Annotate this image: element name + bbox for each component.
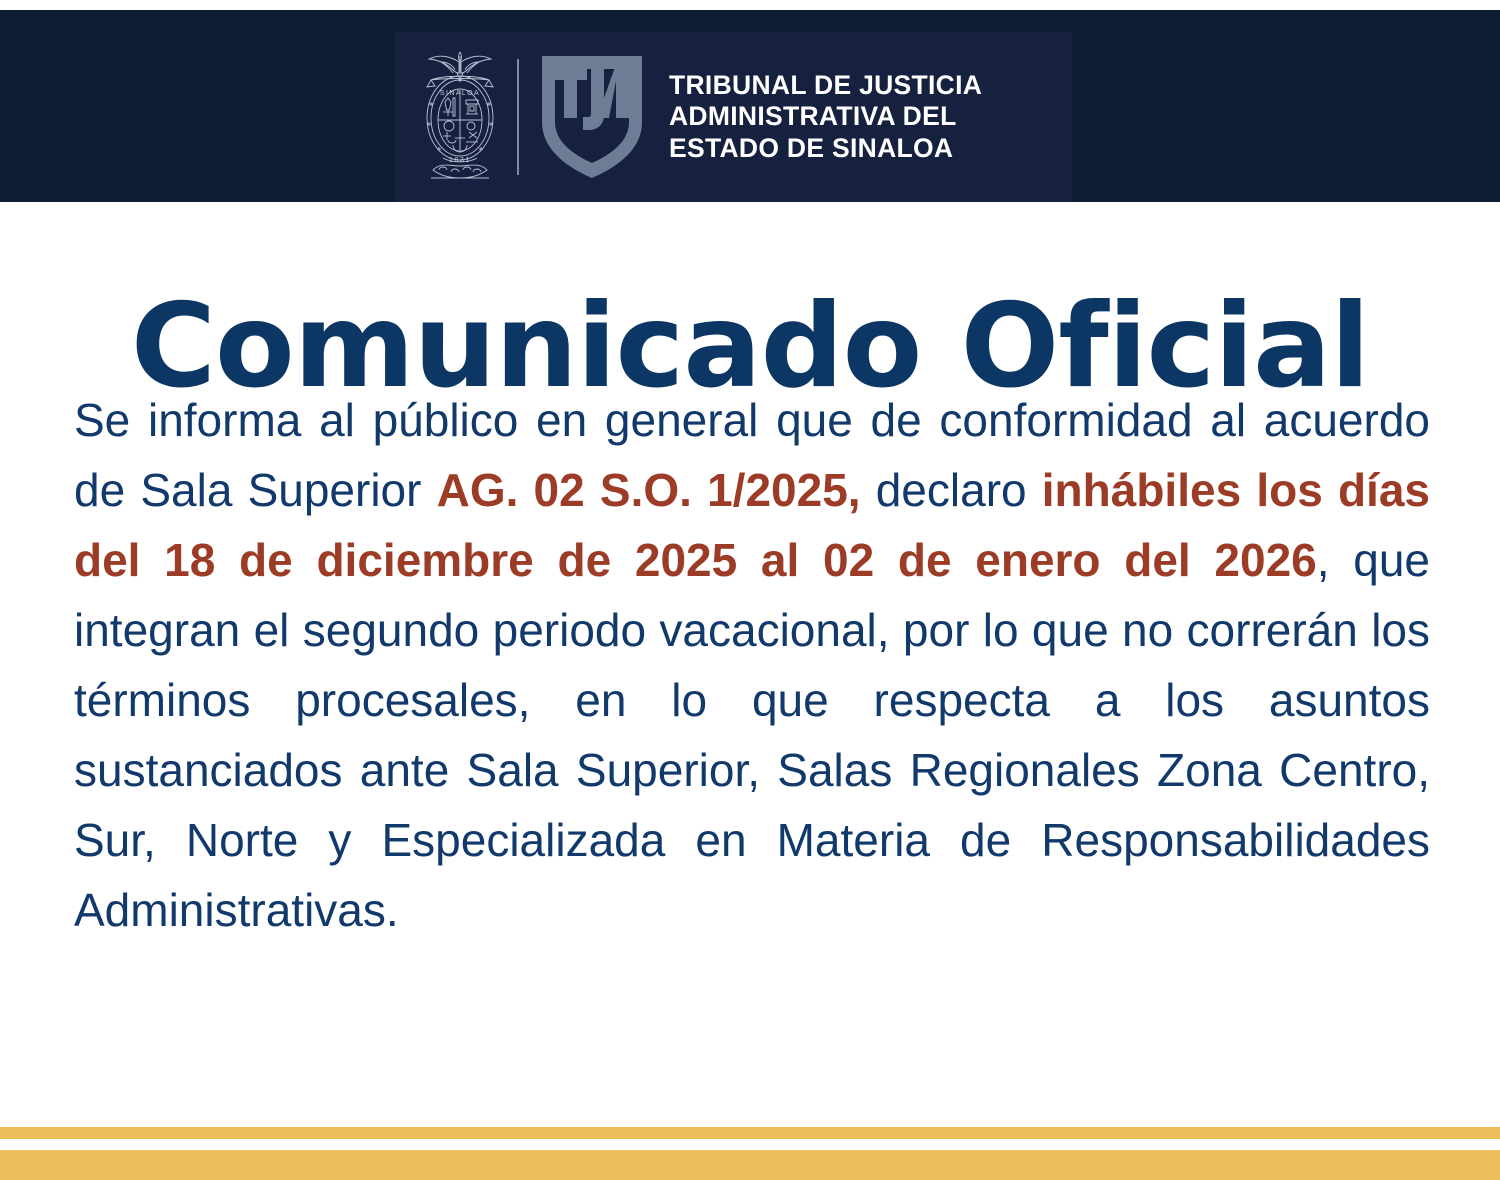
- header-band: SINALOA 1831 TRIBUNAL DE JUSTICIA ADMINI…: [0, 10, 1500, 202]
- footer-bar-thin: [0, 1127, 1500, 1139]
- crest-motto-text: SINALOA: [440, 90, 480, 97]
- comunicado-poster: SINALOA 1831 TRIBUNAL DE JUSTICIA ADMINI…: [0, 0, 1500, 1180]
- crest-year-text: 1831: [449, 157, 471, 164]
- sinaloa-coat-of-arms-icon: SINALOA 1831: [417, 46, 503, 188]
- header-logo-panel: SINALOA 1831 TRIBUNAL DE JUSTICIA ADMINI…: [395, 32, 1072, 202]
- announcement-body: Se informa al público en general que de …: [74, 385, 1430, 945]
- body-accent-text: AG. 02 S.O. 1/2025,: [437, 464, 861, 516]
- tja-shield-monogram-icon: [539, 53, 645, 181]
- body-text: declaro: [861, 464, 1042, 516]
- logo-divider: [517, 59, 519, 175]
- logo-row: SINALOA 1831 TRIBUNAL DE JUSTICIA ADMINI…: [395, 32, 1072, 202]
- body-text: , que integran el segundo periodo vacaci…: [74, 534, 1430, 936]
- organization-name: TRIBUNAL DE JUSTICIA ADMINISTRATIVA DEL …: [669, 70, 982, 164]
- footer-bar-thick: [0, 1150, 1500, 1180]
